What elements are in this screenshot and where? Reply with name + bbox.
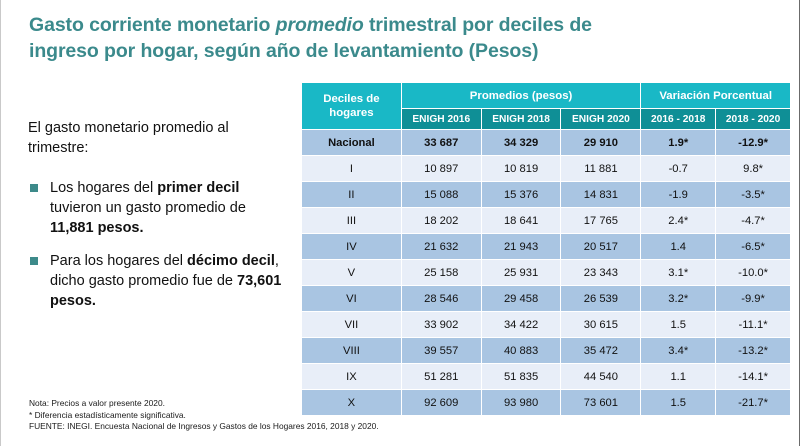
cell-enigh-2020: 29 910 (561, 130, 640, 155)
cell-enigh-2018: 18 641 (482, 208, 561, 233)
cell-var-2016-2018: 1.5 (641, 312, 715, 337)
deciles-table: Deciles de hogares Promedios (pesos) Var… (301, 82, 791, 416)
bullet-text-plain-1: Para los hogares del (50, 253, 187, 269)
col-group-promedios: Promedios (pesos) (402, 83, 640, 108)
table-row: V25 15825 93123 3433.1*-10.0* (302, 260, 790, 285)
cell-enigh-2016: 18 202 (402, 208, 481, 233)
list-item: Para los hogares del décimo decil, dicho… (28, 251, 290, 311)
cell-var-2016-2018: 3.4* (641, 338, 715, 363)
cell-enigh-2016: 33 902 (402, 312, 481, 337)
row-label-decile: VIII (302, 338, 401, 363)
cell-enigh-2016: 33 687 (402, 130, 481, 155)
cell-enigh-2020: 30 615 (561, 312, 640, 337)
cell-var-2016-2018: 1.5 (641, 390, 715, 415)
table-row: VIII39 55740 88335 4723.4*-13.2* (302, 338, 790, 363)
square-bullet-icon (30, 184, 38, 192)
bullet-list: Los hogares del primer decil tuvieron un… (28, 178, 290, 324)
slide-canvas: Gasto corriente monetario promedio trime… (0, 0, 800, 446)
row-label-decile: II (302, 182, 401, 207)
cell-var-2018-2020: -9.9* (716, 286, 790, 311)
col-header-var-2018-2020: 2018 - 2020 (716, 109, 790, 129)
cell-var-2018-2020: -3.5* (716, 182, 790, 207)
row-label-decile: III (302, 208, 401, 233)
bullet-text-bold-1: décimo decil (187, 253, 275, 269)
cell-var-2016-2018: 3.1* (641, 260, 715, 285)
cell-enigh-2020: 11 881 (561, 156, 640, 181)
row-label-decile: VI (302, 286, 401, 311)
table-header-group-row: Deciles de hogares Promedios (pesos) Var… (302, 83, 790, 108)
row-label-decile: X (302, 390, 401, 415)
bullet-text-plain-1: Los hogares del (50, 180, 157, 196)
cell-enigh-2018: 51 835 (482, 364, 561, 389)
table-row: I10 89710 81911 881-0.79.8* (302, 156, 790, 181)
cell-var-2018-2020: -21.7* (716, 390, 790, 415)
cell-enigh-2020: 44 540 (561, 364, 640, 389)
row-label-decile: VII (302, 312, 401, 337)
table-head: Deciles de hogares Promedios (pesos) Var… (302, 83, 790, 129)
list-item: Los hogares del primer decil tuvieron un… (28, 178, 290, 238)
col-group-variacion: Variación Porcentual (641, 83, 790, 108)
cell-var-2016-2018: 1.1 (641, 364, 715, 389)
table-body: Nacional33 68734 32929 9101.9*-12.9*I10 … (302, 130, 790, 415)
cell-var-2016-2018: -0.7 (641, 156, 715, 181)
cell-enigh-2016: 39 557 (402, 338, 481, 363)
bullet-text-bold-2: 11,881 pesos. (50, 220, 144, 236)
bullet-text-plain-2: tuvieron un gasto promedio de (50, 200, 246, 216)
cell-enigh-2020: 17 765 (561, 208, 640, 233)
lead-paragraph: El gasto monetario promedio al trimestre… (28, 118, 283, 158)
col-header-deciles: Deciles de hogares (302, 83, 401, 129)
cell-enigh-2018: 93 980 (482, 390, 561, 415)
col-header-enigh-2018: ENIGH 2018 (482, 109, 561, 129)
title-line1-italic: promedio (276, 14, 364, 36)
cell-enigh-2020: 26 539 (561, 286, 640, 311)
cell-var-2016-2018: 1.9* (641, 130, 715, 155)
table-row: VII33 90234 42230 6151.5-11.1* (302, 312, 790, 337)
cell-var-2018-2020: -6.5* (716, 234, 790, 259)
table-row: IX51 28151 83544 5401.1-14.1* (302, 364, 790, 389)
title-line1-part1: Gasto corriente monetario (29, 14, 276, 36)
cell-enigh-2018: 25 931 (482, 260, 561, 285)
row-label-decile: Nacional (302, 130, 401, 155)
cell-enigh-2020: 73 601 (561, 390, 640, 415)
cell-enigh-2020: 23 343 (561, 260, 640, 285)
cell-enigh-2018: 29 458 (482, 286, 561, 311)
cell-enigh-2016: 51 281 (402, 364, 481, 389)
table-row: II15 08815 37614 831-1.9-3.5* (302, 182, 790, 207)
table-row: VI28 54629 45826 5393.2*-9.9* (302, 286, 790, 311)
col-header-deciles-line2: hogares (329, 107, 373, 119)
cell-var-2018-2020: -10.0* (716, 260, 790, 285)
bullet-text-bold-1: primer decil (157, 180, 239, 196)
cell-enigh-2016: 28 546 (402, 286, 481, 311)
cell-enigh-2018: 34 329 (482, 130, 561, 155)
cell-var-2018-2020: -11.1* (716, 312, 790, 337)
cell-enigh-2018: 10 819 (482, 156, 561, 181)
cell-var-2018-2020: -14.1* (716, 364, 790, 389)
col-header-deciles-line1: Deciles de (323, 93, 379, 105)
footnote-source: FUENTE: INEGI. Encuesta Nacional de Ingr… (29, 421, 549, 433)
cell-enigh-2016: 21 632 (402, 234, 481, 259)
row-label-decile: I (302, 156, 401, 181)
cell-var-2016-2018: -1.9 (641, 182, 715, 207)
table-row: III18 20218 64117 7652.4*-4.7* (302, 208, 790, 233)
cell-enigh-2020: 20 517 (561, 234, 640, 259)
cell-enigh-2016: 10 897 (402, 156, 481, 181)
cell-enigh-2018: 34 422 (482, 312, 561, 337)
cell-var-2018-2020: -13.2* (716, 338, 790, 363)
cell-enigh-2018: 21 943 (482, 234, 561, 259)
cell-var-2016-2018: 2.4* (641, 208, 715, 233)
cell-enigh-2016: 25 158 (402, 260, 481, 285)
cell-var-2018-2020: 9.8* (716, 156, 790, 181)
table-row: Nacional33 68734 32929 9101.9*-12.9* (302, 130, 790, 155)
row-label-decile: V (302, 260, 401, 285)
title-line2: ingreso por hogar, según año de levantam… (29, 40, 538, 62)
cell-enigh-2020: 14 831 (561, 182, 640, 207)
cell-var-2018-2020: -4.7* (716, 208, 790, 233)
col-header-enigh-2020: ENIGH 2020 (561, 109, 640, 129)
row-label-decile: IX (302, 364, 401, 389)
table-row: X92 60993 98073 6011.5-21.7* (302, 390, 790, 415)
col-header-var-2016-2018: 2016 - 2018 (641, 109, 715, 129)
row-label-decile: IV (302, 234, 401, 259)
data-table-container: Deciles de hogares Promedios (pesos) Var… (301, 82, 791, 416)
square-bullet-icon (30, 257, 38, 265)
title-line1-part2: trimestral por deciles de (364, 14, 592, 36)
cell-enigh-2020: 35 472 (561, 338, 640, 363)
table-row: IV21 63221 94320 5171.4-6.5* (302, 234, 790, 259)
col-header-enigh-2016: ENIGH 2016 (402, 109, 481, 129)
cell-enigh-2016: 92 609 (402, 390, 481, 415)
cell-var-2016-2018: 1.4 (641, 234, 715, 259)
cell-var-2016-2018: 3.2* (641, 286, 715, 311)
cell-enigh-2018: 15 376 (482, 182, 561, 207)
page-title: Gasto corriente monetario promedio trime… (29, 12, 749, 64)
cell-var-2018-2020: -12.9* (716, 130, 790, 155)
cell-enigh-2018: 40 883 (482, 338, 561, 363)
cell-enigh-2016: 15 088 (402, 182, 481, 207)
